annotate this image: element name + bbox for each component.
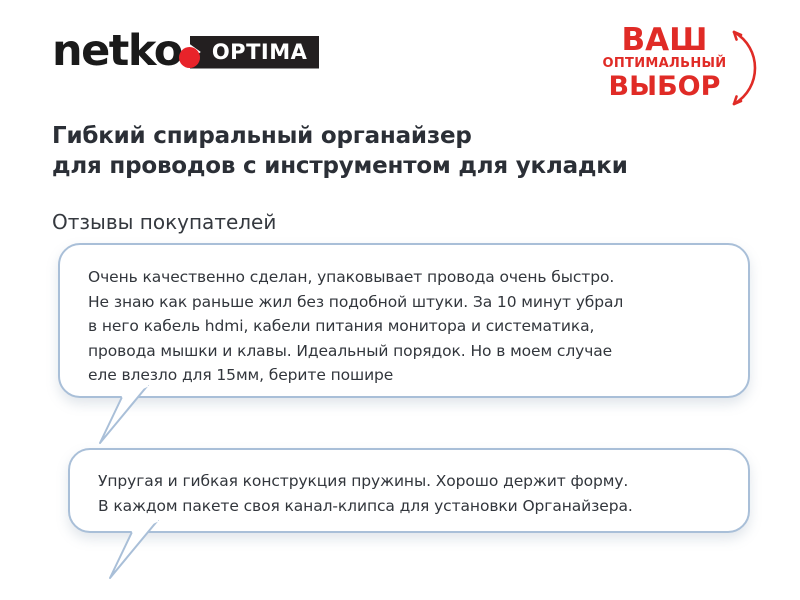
brand-optima-block: OPTIMA xyxy=(190,36,320,69)
choice-badge-text: ВАШ ОПТИМАЛЬНЫЙ ВЫБОР xyxy=(592,24,737,101)
curved-double-arrow-icon xyxy=(724,22,768,114)
review-line: Не знаю как раньше жил без подобной штук… xyxy=(88,290,748,315)
review-text: Упругая и гибкая конструкция пружины. Хо… xyxy=(98,469,748,518)
section-heading-reviews: Отзывы покупателей xyxy=(52,209,276,235)
brand-optima-badge: OPTIMA xyxy=(190,36,320,69)
review-line: в него кабель hdmi, кабели питания монит… xyxy=(88,314,748,339)
choice-badge-line2: ОПТИМАЛЬНЫЙ xyxy=(592,56,737,72)
review-text: Очень качественно сделан, упаковывает пр… xyxy=(88,265,748,388)
page-title-line2: для проводов с инструментом для укладки xyxy=(52,151,752,181)
page-header: netko OPTIMA ВАШ ОПТИМАЛЬНЫЙ ВЫБОР xyxy=(0,0,800,110)
review-line: Очень качественно сделан, упаковывает пр… xyxy=(88,265,748,290)
choice-badge-line1: ВАШ xyxy=(592,24,737,56)
review-line: В каждом пакете своя канал-клипса для ус… xyxy=(98,494,748,519)
review-line: Упругая и гибкая конструкция пружины. Хо… xyxy=(98,469,748,494)
review-bubble: Упругая и гибкая конструкция пружины. Хо… xyxy=(68,448,750,533)
page-title: Гибкий спиральный органайзер для проводо… xyxy=(52,121,752,181)
review-bubble: Очень качественно сделан, упаковывает пр… xyxy=(58,243,750,398)
brand-wordmark: netko xyxy=(52,30,182,73)
red-circle-icon xyxy=(179,47,200,68)
brand-logo[interactable]: netko OPTIMA xyxy=(52,26,319,78)
page-title-line1: Гибкий спиральный органайзер xyxy=(52,121,752,151)
promo-page: netko OPTIMA ВАШ ОПТИМАЛЬНЫЙ ВЫБОР Ги xyxy=(0,0,800,600)
choice-badge-line3: ВЫБОР xyxy=(592,72,737,101)
review-line: еле влезло для 15мм, берите пошире xyxy=(88,363,748,388)
brand-optima-label: OPTIMA xyxy=(212,42,308,63)
review-line: провода мышки и клавы. Идеальный порядок… xyxy=(88,339,748,364)
choice-badge: ВАШ ОПТИМАЛЬНЫЙ ВЫБОР xyxy=(592,24,772,110)
